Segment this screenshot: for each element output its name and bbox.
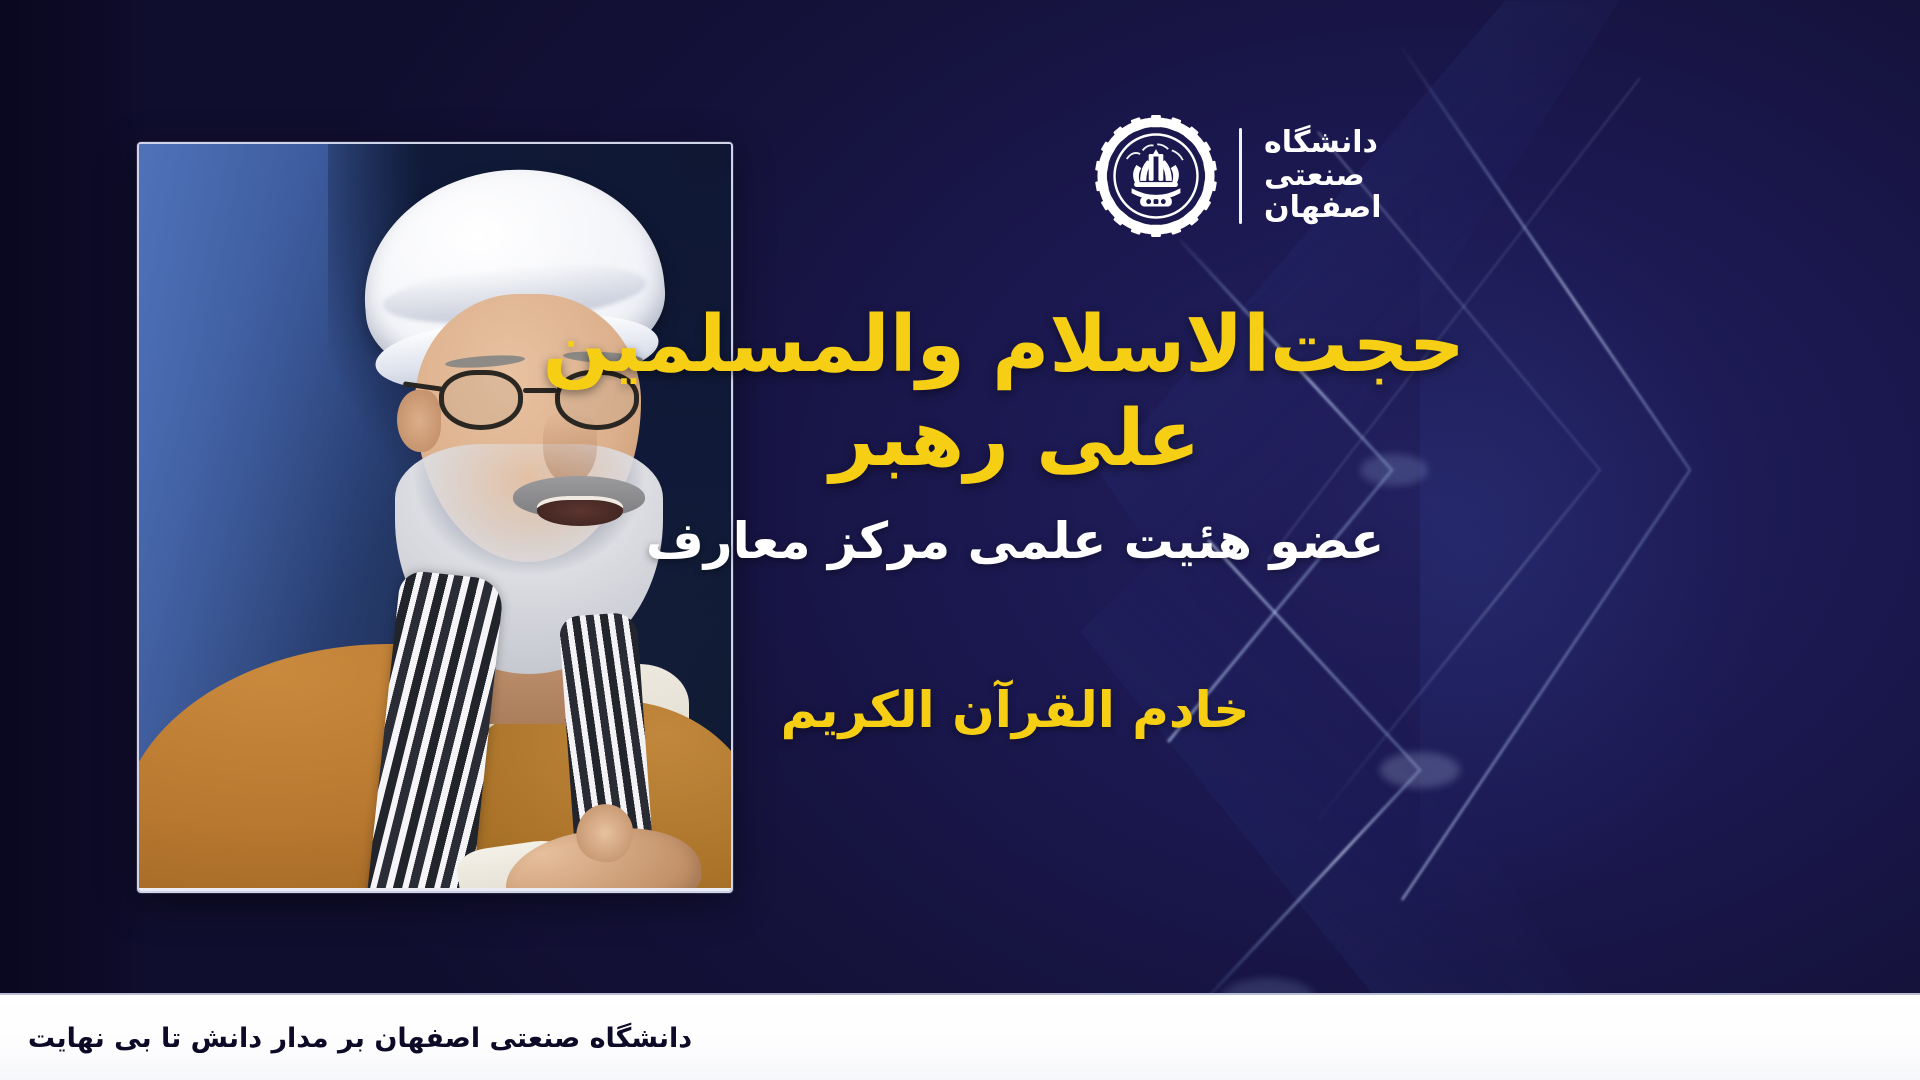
speaker-name: علی رهبر	[565, 394, 1465, 484]
portrait-bottom-rule	[139, 888, 731, 891]
portrait-ear	[397, 390, 441, 452]
speaker-text-block: حجت‌الاسلام والمسلمین علی رهبر عضو هئیت …	[565, 300, 1465, 739]
speaker-title-line-1: حجت‌الاسلام والمسلمین	[565, 300, 1465, 390]
logo-line-3: اصفهان	[1264, 193, 1382, 224]
logo-line-2: صنعتی	[1264, 161, 1365, 192]
footer-bar: دانشگاه صنعتی اصفهان بر مدار دانش تا بی …	[0, 993, 1920, 1080]
logo-line-1: دانشگاه	[1264, 128, 1378, 159]
portrait-lens-left	[439, 370, 523, 430]
speaker-honorific: خادم القرآن الکریم	[565, 681, 1465, 739]
university-logo-lockup: دانشگاه صنعتی اصفهان	[1095, 106, 1425, 246]
footer-slogan: دانشگاه صنعتی اصفهان بر مدار دانش تا بی …	[0, 995, 720, 1080]
logo-divider	[1239, 128, 1242, 224]
university-logo-wordmark: دانشگاه صنعتی اصفهان	[1264, 128, 1382, 224]
speaker-role: عضو هئیت علمی مرکز معارف	[565, 511, 1465, 571]
poster-canvas: دانشگاه صنعتی اصفهان	[0, 0, 1920, 1080]
iut-gear-tulip-emblem-icon	[1095, 115, 1217, 237]
